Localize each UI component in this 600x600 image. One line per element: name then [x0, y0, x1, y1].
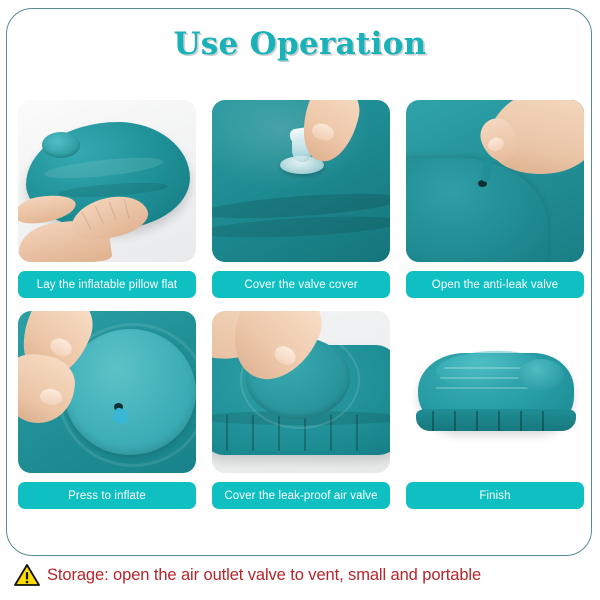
step-photo-4	[18, 311, 196, 473]
pillow-pleat	[356, 415, 358, 451]
pillow-pleat	[498, 411, 500, 431]
step-card-4: Press to inflate	[18, 311, 196, 509]
finger-separation-line	[109, 201, 117, 220]
step-photo-2	[212, 100, 390, 262]
pillow-pleat	[252, 415, 254, 451]
step-card-3: Open the anti-leak valve	[406, 100, 584, 298]
storage-warning-text: Storage: open the air outlet valve to ve…	[47, 566, 481, 585]
step-caption-1: Lay the inflatable pillow flat	[18, 271, 196, 298]
step-photo-5	[212, 311, 390, 473]
storage-warning: Storage: open the air outlet valve to ve…	[0, 563, 600, 587]
pillow-seam-line	[436, 387, 530, 389]
step-caption-5: Cover the leak-proof air valve	[212, 482, 390, 509]
pillow-pleat	[454, 411, 456, 431]
finger-separation-line	[81, 211, 92, 229]
step-card-2: Cover the valve cover	[212, 100, 390, 298]
warning-triangle-icon	[14, 563, 40, 587]
pillow-pleat	[226, 415, 228, 451]
pillow-pleat	[432, 411, 434, 431]
pillow-skirt	[416, 409, 576, 431]
finger-separation-line	[95, 205, 104, 224]
pillow-pleat	[542, 411, 544, 431]
step-caption-3: Open the anti-leak valve	[406, 271, 584, 298]
step-photo-1	[18, 100, 196, 262]
pillow-valve-bump	[518, 359, 564, 391]
pillow-seam-line	[444, 367, 522, 369]
steps-grid: Lay the inflatable pillow flat Cover the…	[18, 100, 584, 509]
finger-separation-line	[124, 199, 130, 219]
step-caption-6: Finish	[406, 482, 584, 509]
pillow-seam-line	[440, 377, 528, 379]
pillow-valve-bulge	[42, 132, 80, 158]
pillow-pleat	[520, 411, 522, 431]
step-photo-6	[406, 311, 584, 473]
step-caption-2: Cover the valve cover	[212, 271, 390, 298]
step-photo-3	[406, 100, 584, 262]
step-caption-4: Press to inflate	[18, 482, 196, 509]
product-instruction-page: Use Operation Lay the inflatable pillow	[0, 0, 600, 600]
pillow-pleat	[476, 411, 478, 431]
step-card-5: Cover the leak-proof air valve	[212, 311, 390, 509]
step-card-1: Lay the inflatable pillow flat	[18, 100, 196, 298]
step-card-6: Finish	[406, 311, 584, 509]
page-title: Use Operation	[0, 26, 600, 62]
